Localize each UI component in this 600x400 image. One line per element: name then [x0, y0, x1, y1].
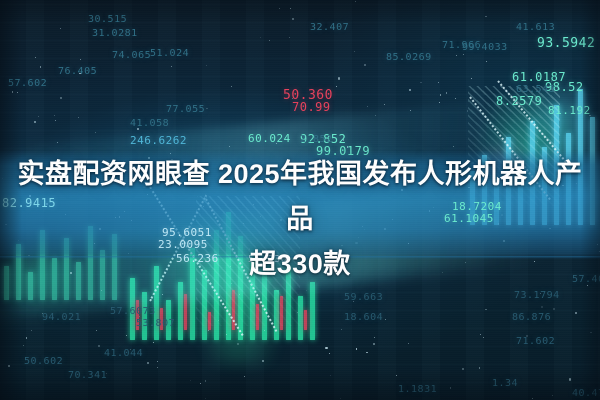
price-label: 70.99: [292, 100, 331, 114]
background-particle: [206, 65, 207, 66]
price-label: 99.4033: [462, 42, 508, 53]
headline-line-1: 实盘配资网眼查 2025年我国发布人形机器人产品: [0, 152, 600, 242]
background-particle: [96, 330, 97, 331]
price-label: 31.0281: [92, 28, 138, 39]
background-particle: [38, 116, 39, 117]
background-particle: [26, 337, 27, 338]
price-label: 81.192: [548, 104, 591, 117]
background-particle: [40, 66, 41, 67]
price-label: 1.1831: [398, 384, 437, 395]
background-particle: [206, 108, 207, 109]
price-label: 2.852: [300, 134, 333, 145]
price-label: 18.604: [344, 312, 383, 323]
background-particle: [292, 18, 294, 20]
price-label: 51.024: [150, 48, 189, 59]
price-label: 70.341: [68, 370, 107, 381]
price-label: 8.2579: [496, 94, 542, 108]
background-particle: [244, 376, 245, 377]
background-particle: [325, 347, 327, 349]
price-label: 77.055: [166, 104, 205, 115]
price-label: 63.543: [516, 84, 555, 95]
background-particle: [552, 395, 553, 396]
background-particle: [200, 383, 201, 384]
price-label: 57.6073: [110, 306, 156, 317]
price-label: 40.470: [572, 388, 600, 399]
background-particle: [260, 37, 261, 38]
background-particle: [330, 375, 331, 376]
price-label: 41.044: [104, 348, 143, 359]
chart-bar: [304, 310, 307, 330]
price-label: 71.602: [516, 336, 555, 347]
price-label: 74.065: [112, 50, 151, 61]
price-label: 41.058: [130, 118, 169, 129]
background-particle: [231, 86, 232, 87]
price-label: 41.613: [516, 22, 555, 33]
background-particle: [420, 82, 421, 83]
price-label: 85.0269: [386, 52, 432, 63]
background-particle: [98, 345, 100, 347]
background-particle: [590, 332, 591, 333]
background-particle: [60, 97, 62, 99]
background-particle: [12, 91, 13, 92]
background-particle: [356, 348, 357, 349]
price-label: 53.807: [136, 318, 175, 329]
price-label: 246.6262: [130, 134, 187, 147]
background-particle: [575, 312, 577, 314]
background-particle: [226, 334, 227, 335]
banner-image: 93.594261.018798.528.257981.19250.36070.…: [0, 0, 600, 400]
price-label: 76.405: [58, 66, 97, 77]
price-label: 94.021: [42, 312, 81, 323]
price-label: 93.5942: [537, 36, 595, 51]
background-particle: [338, 77, 340, 79]
price-label: 50.602: [24, 356, 63, 367]
background-particle: [190, 380, 191, 381]
background-particle: [147, 362, 149, 364]
price-label: 59.663: [344, 292, 383, 303]
price-label: 86.876: [512, 312, 551, 323]
price-label: 32.407: [310, 22, 349, 33]
background-particle: [450, 387, 451, 388]
price-label: 30.515: [88, 14, 127, 25]
background-particle: [485, 309, 486, 310]
price-label: 60.024: [248, 132, 291, 145]
page-title: 实盘配资网眼查 2025年我国发布人形机器人产品 超330款: [0, 152, 600, 287]
background-particle: [354, 51, 355, 52]
background-particle: [297, 312, 298, 313]
background-particle: [205, 380, 206, 381]
background-particle: [569, 378, 571, 380]
background-particle: [462, 368, 464, 370]
background-particle: [54, 115, 55, 116]
background-particle: [374, 337, 375, 338]
price-label: 73.1794: [514, 290, 560, 301]
background-particle: [384, 104, 385, 105]
background-particle: [479, 367, 480, 368]
headline-line-2: 超330款: [0, 242, 600, 287]
price-label: 1.34: [492, 378, 518, 389]
background-particle: [541, 306, 543, 308]
background-particle: [205, 398, 206, 399]
background-particle: [446, 92, 447, 93]
price-label: 57.602: [8, 78, 47, 89]
background-particle: [485, 16, 486, 17]
background-particle: [455, 98, 456, 99]
